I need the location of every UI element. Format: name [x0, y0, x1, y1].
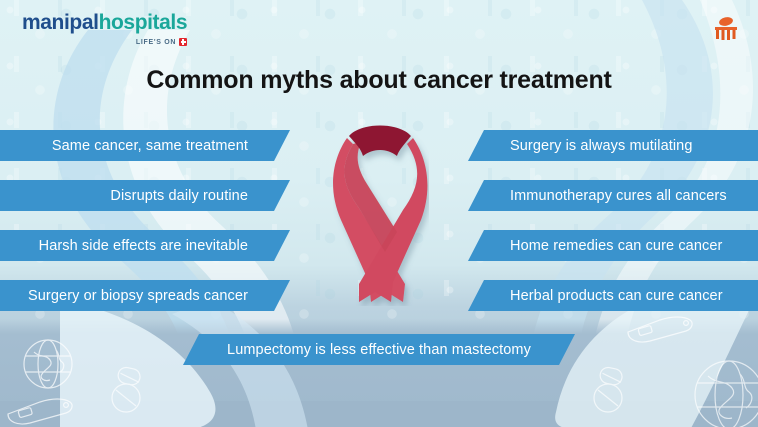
myth-banner-bottom[interactable]: Lumpectomy is less effective than mastec… [183, 334, 575, 365]
myth-banner-left-4[interactable]: Surgery or biopsy spreads cancer [0, 280, 290, 311]
myth-banner-label: Immunotherapy cures all cancers [510, 188, 727, 204]
cancer-awareness-ribbon-icon [333, 116, 429, 306]
myth-banner-right-1[interactable]: Surgery is always mutilating [468, 130, 758, 161]
myth-banner-right-2[interactable]: Immunotherapy cures all cancers [468, 180, 758, 211]
brand-name: manipalhospitals [22, 12, 187, 33]
myth-banner-left-1[interactable]: Same cancer, same treatment [0, 130, 290, 161]
myth-banner-label: Same cancer, same treatment [52, 138, 248, 154]
myth-banner-label: Lumpectomy is less effective than mastec… [227, 342, 531, 358]
myth-banner-label: Home remedies can cure cancer [510, 238, 722, 254]
myth-banner-label: Herbal products can cure cancer [510, 288, 723, 304]
brand-name-part1: manipal [22, 11, 99, 34]
brand-tagline: LIFE'S ON [136, 39, 176, 46]
infographic-canvas: manipalhospitals LIFE'S ON Common myths … [0, 0, 758, 427]
page-title: Common myths about cancer treatment [0, 66, 758, 95]
background-bottom-strip [0, 401, 758, 427]
brand-logo[interactable]: manipalhospitals LIFE'S ON [22, 12, 187, 46]
myth-banner-label: Surgery or biopsy spreads cancer [28, 288, 248, 304]
myth-banner-label: Harsh side effects are inevitable [39, 238, 248, 254]
brand-tagline-row: LIFE'S ON [22, 38, 187, 46]
myth-banner-left-2[interactable]: Disrupts daily routine [0, 180, 290, 211]
myth-banner-right-4[interactable]: Herbal products can cure cancer [468, 280, 758, 311]
awareness-mark-icon [712, 16, 740, 47]
myth-banner-right-3[interactable]: Home remedies can cure cancer [468, 230, 758, 261]
myth-banner-left-3[interactable]: Harsh side effects are inevitable [0, 230, 290, 261]
medical-cross-icon [179, 38, 187, 46]
brand-name-part2: hospitals [99, 11, 188, 34]
myth-banner-label: Surgery is always mutilating [510, 138, 693, 154]
myth-banner-label: Disrupts daily routine [110, 188, 248, 204]
